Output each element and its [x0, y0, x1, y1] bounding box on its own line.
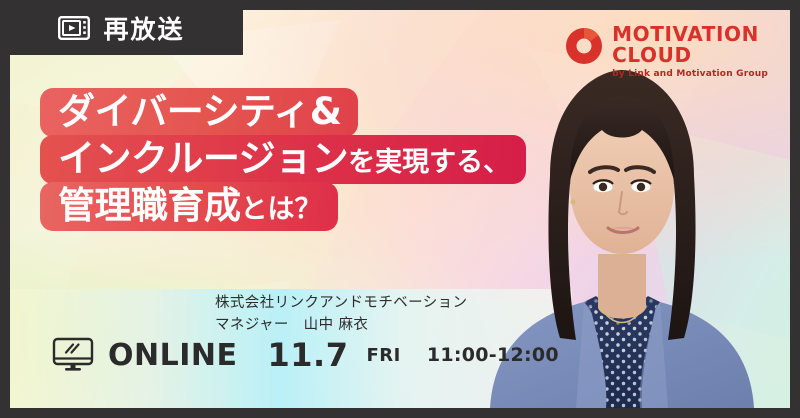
title-line-3: 管理職育成とは？	[40, 182, 338, 231]
webinar-banner: ダイバーシティ& インクルージョンを実現する、 管理職育成とは？ 株式会社リンク…	[0, 0, 800, 418]
speaker-company: 株式会社リンクアンドモチベーション	[215, 292, 467, 314]
title-block: ダイバーシティ& インクルージョンを実現する、 管理職育成とは？	[40, 88, 526, 231]
speaker-credit: 株式会社リンクアンドモチベーション マネジャー 山中 麻衣	[215, 292, 467, 337]
motivation-cloud-logo: MOTIVATION CLOUD by Link and Motivation …	[565, 24, 768, 79]
desktop-monitor-icon	[52, 337, 94, 373]
title-line-2-sub: を実現する、	[348, 147, 510, 178]
title-line-1: ダイバーシティ&	[40, 88, 358, 137]
logo-line-1: MOTIVATION	[612, 24, 768, 45]
banner-artboard: ダイバーシティ& インクルージョンを実現する、 管理職育成とは？ 株式会社リンク…	[10, 10, 790, 408]
rerun-badge-label: 再放送	[103, 10, 184, 46]
title-line-2: インクルージョンを実現する、	[40, 135, 526, 184]
speaker-role-name: マネジャー 山中 麻衣	[215, 314, 467, 336]
title-line-3-sub: とは？	[241, 194, 322, 225]
logo-tagline: by Link and Motivation Group	[612, 69, 768, 79]
logo-wordmark: MOTIVATION CLOUD by Link and Motivation …	[612, 24, 768, 79]
logo-line-2: CLOUD	[612, 45, 768, 66]
event-day-of-week: FRI	[366, 345, 400, 366]
rerun-badge: 再放送	[0, 0, 243, 55]
title-line-3-main: 管理職育成	[58, 184, 241, 227]
online-label: ONLINE	[108, 338, 238, 373]
event-date: 11.7	[268, 336, 349, 374]
event-time: 11:00-12:00	[427, 344, 559, 366]
tv-play-icon	[58, 16, 90, 40]
title-line-1-text: ダイバーシティ&	[58, 90, 342, 133]
ring-mark-icon	[565, 27, 603, 65]
event-info-row: ONLINE 11.7 FRI 11:00-12:00	[52, 336, 559, 374]
title-line-2-main: インクルージョン	[58, 137, 348, 180]
